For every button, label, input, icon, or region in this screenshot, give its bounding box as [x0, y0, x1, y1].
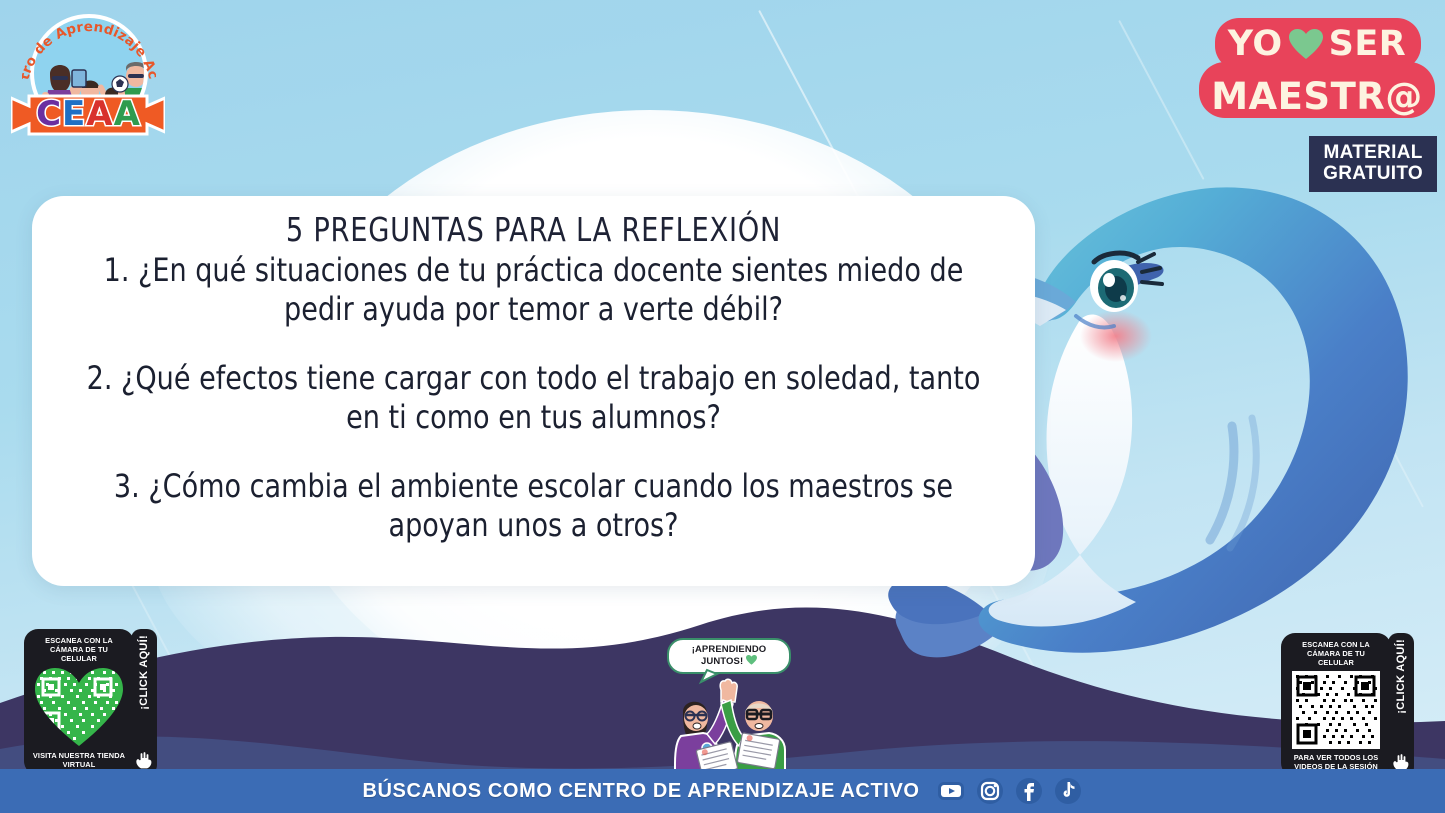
facebook-icon[interactable] — [1014, 776, 1044, 806]
free-material-line2: GRATUITO — [1323, 163, 1423, 184]
speech-bubble-line2: JUNTOS! — [701, 656, 743, 667]
qr-store-caption-bottom: VISITA NUESTRA TIENDA VIRTUAL — [32, 751, 126, 769]
footer-bar: BÚSCANOS COMO CENTRO DE APRENDIZAJE ACTI… — [0, 769, 1445, 813]
logo-letter-1: E — [62, 97, 85, 131]
tiktok-icon[interactable] — [1053, 776, 1083, 806]
qr-store-block[interactable]: ESCANEA CON LA CÁMARA DE TU CELULAR — [24, 629, 157, 775]
question-1: 1. ¿En qué situaciones de tu práctica do… — [87, 251, 981, 329]
teacher-mascots: ¡APRENDIENDO JUNTOS! — [655, 638, 810, 775]
question-2: 2. ¿Qué efectos tiene cargar con todo el… — [87, 359, 981, 437]
logo-arc-text-path: Centro de Aprendizaje Activo — [22, 10, 156, 82]
qr-videos-click-label: ¡CLICK AQUÍ! — [1395, 639, 1407, 714]
qr-store-card[interactable]: ESCANEA CON LA CÁMARA DE TU CELULAR — [24, 629, 134, 775]
logo-letter-3: A — [114, 97, 140, 131]
logo-letter-0: C — [36, 97, 61, 131]
reflection-card: 5 PREGUNTAS PARA LA REFLEXIÓN 1. ¿En qué… — [32, 196, 1035, 586]
brand-maestro: MAESTR@ — [1211, 78, 1423, 115]
heart-icon — [746, 655, 757, 665]
speech-bubble-line2-wrap: JUNTOS! — [675, 655, 783, 667]
ceaa-logo: Centro de Aprendizaje Activo C E A A — [8, 6, 168, 141]
brand-badge: YO SER MAESTR@ — [1197, 14, 1437, 126]
youtube-icon[interactable] — [936, 776, 966, 806]
qr-code-heart-icon[interactable] — [33, 667, 125, 747]
instagram-icon[interactable] — [975, 776, 1005, 806]
page-title: 5 PREGUNTAS PARA LA REFLEXIÓN — [96, 210, 971, 249]
slide-canvas: Centro de Aprendizaje Activo C E A A YO … — [0, 0, 1445, 813]
free-material-badge: MATERIAL GRATUITO — [1309, 136, 1437, 192]
logo-arc-text: Centro de Aprendizaje Activo — [22, 10, 156, 90]
brand-yo: YO — [1228, 27, 1283, 62]
logo-letter-2: A — [86, 97, 112, 131]
teacher-figures-illustration — [655, 668, 810, 778]
qr-videos-caption-top: ESCANEA CON LA CÁMARA DE TU CELULAR — [1289, 640, 1383, 667]
question-3: 3. ¿Cómo cambia el ambiente escolar cuan… — [87, 467, 981, 545]
qr-videos-click-tab[interactable]: ¡CLICK AQUÍ! — [1388, 633, 1414, 777]
qr-store-caption-top: ESCANEA CON LA CÁMARA DE TU CELULAR — [32, 636, 126, 663]
logo-letters: C E A A — [8, 92, 168, 136]
free-material-line1: MATERIAL — [1323, 142, 1423, 163]
qr-store-click-tab[interactable]: ¡CLICK AQUÍ! — [131, 629, 157, 775]
social-links — [936, 776, 1083, 806]
qr-code-icon[interactable] — [1292, 671, 1380, 749]
qr-videos-block[interactable]: ESCANEA CON LA CÁMARA DE TU CELULAR — [1281, 633, 1414, 777]
qr-videos-card[interactable]: ESCANEA CON LA CÁMARA DE TU CELULAR — [1281, 633, 1391, 777]
speech-bubble-line1: ¡APRENDIENDO — [675, 644, 783, 655]
pointing-hand-icon — [133, 749, 155, 771]
heart-icon — [1289, 29, 1323, 60]
qr-store-click-label: ¡CLICK AQUÍ! — [138, 635, 150, 710]
svg-text:Centro de Aprendizaje Activo: Centro de Aprendizaje Activo — [22, 10, 156, 82]
footer-text: BÚSCANOS COMO CENTRO DE APRENDIZAJE ACTI… — [362, 780, 919, 803]
brand-ser: SER — [1329, 27, 1407, 62]
